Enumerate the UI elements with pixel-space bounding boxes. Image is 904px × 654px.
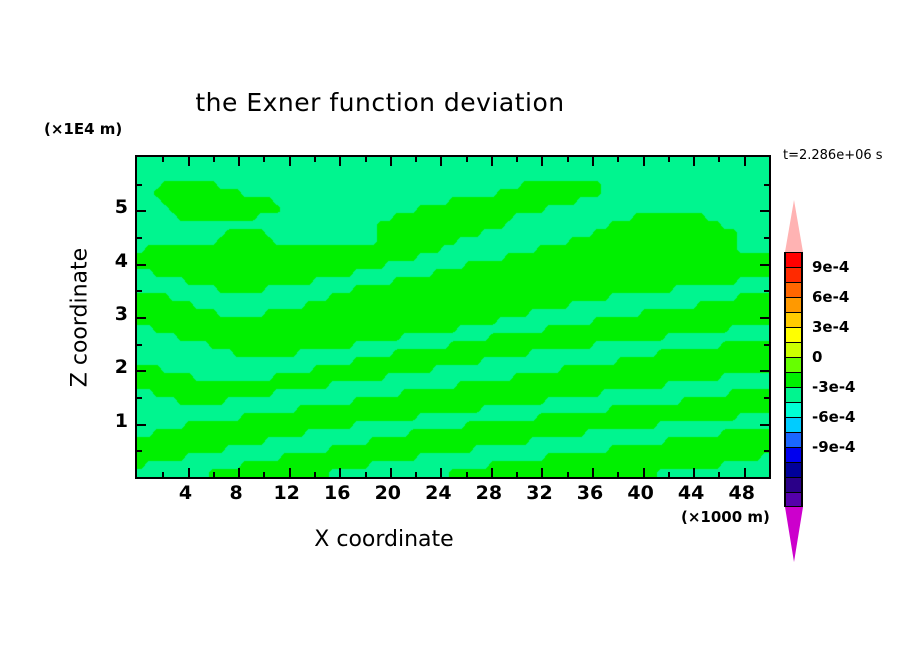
y-tick-label: 4 (98, 250, 128, 272)
y-tick-minor-right (764, 237, 771, 239)
x-tick-major-top (693, 155, 695, 166)
y-tick-major (135, 317, 146, 319)
x-tick-minor (162, 472, 164, 479)
colorbar-band (784, 267, 803, 282)
x-tick-label: 40 (619, 482, 663, 504)
y-tick-major (135, 210, 146, 212)
y-tick-major (135, 264, 146, 266)
x-tick-major-top (592, 155, 594, 166)
x-tick-major-top (744, 155, 746, 166)
x-tick-major (592, 468, 594, 479)
colorbar-band (784, 372, 803, 387)
contour-plot-area (135, 155, 771, 479)
x-tick-minor (516, 472, 518, 479)
x-tick-major-top (188, 155, 190, 166)
x-tick-minor (769, 472, 771, 479)
x-tick-minor-top (516, 155, 518, 162)
x-tick-minor-top (718, 155, 720, 162)
x-tick-minor (415, 472, 417, 479)
y-axis-unit-label: (×1E4 m) (44, 120, 122, 138)
contour-field (137, 157, 769, 477)
x-tick-major-top (643, 155, 645, 166)
y-tick-major (135, 424, 146, 426)
x-tick-major-top (390, 155, 392, 166)
y-tick-minor-right (764, 450, 771, 452)
colorbar-band (784, 357, 803, 372)
colorbar-tick-label: 3e-4 (812, 318, 849, 336)
y-tick-minor (135, 290, 142, 292)
x-tick-minor-top (769, 155, 771, 162)
y-tick-major-right (760, 424, 771, 426)
x-tick-label: 24 (416, 482, 460, 504)
x-tick-minor-top (263, 155, 265, 162)
x-tick-minor-top (668, 155, 670, 162)
colorbar-band (784, 342, 803, 357)
x-tick-minor (263, 472, 265, 479)
x-tick-major (643, 468, 645, 479)
x-tick-minor (567, 472, 569, 479)
x-tick-major (238, 468, 240, 479)
x-tick-label: 4 (164, 482, 208, 504)
y-tick-label: 1 (98, 410, 128, 432)
x-tick-major-top (339, 155, 341, 166)
x-tick-minor-top (213, 155, 215, 162)
x-tick-major (188, 468, 190, 479)
colorbar-underflow-arrow (785, 507, 803, 562)
colorbar-band (784, 477, 803, 492)
x-tick-minor (213, 472, 215, 479)
x-tick-minor-top (466, 155, 468, 162)
y-tick-minor (135, 237, 142, 239)
colorbar-band (784, 327, 803, 342)
x-tick-major-top (440, 155, 442, 166)
colorbar-tick-label: 9e-4 (812, 258, 849, 276)
x-tick-label: 12 (265, 482, 309, 504)
colorbar-overflow-arrow (785, 200, 803, 252)
x-tick-major (541, 468, 543, 479)
colorbar-tick-label: -3e-4 (812, 378, 856, 396)
x-axis-unit-label: (×1000 m) (681, 508, 770, 526)
x-tick-major (491, 468, 493, 479)
y-tick-major-right (760, 264, 771, 266)
y-tick-major-right (760, 370, 771, 372)
x-tick-minor (466, 472, 468, 479)
colorbar-band (784, 432, 803, 447)
x-tick-major-top (491, 155, 493, 166)
x-tick-label: 36 (568, 482, 612, 504)
colorbar-band (784, 417, 803, 432)
x-tick-minor (668, 472, 670, 479)
y-tick-minor-right (764, 184, 771, 186)
x-tick-label: 20 (366, 482, 410, 504)
x-tick-minor (365, 472, 367, 479)
colorbar-band (784, 312, 803, 327)
x-tick-minor-top (617, 155, 619, 162)
x-tick-major (744, 468, 746, 479)
x-tick-minor-top (365, 155, 367, 162)
x-tick-major (390, 468, 392, 479)
colorbar-tick-label: -9e-4 (812, 438, 856, 456)
y-tick-label: 5 (98, 196, 128, 218)
y-tick-label: 2 (98, 356, 128, 378)
page-title: the Exner function deviation (0, 88, 760, 117)
y-tick-major-right (760, 210, 771, 212)
colorbar-tick-label: -6e-4 (812, 408, 856, 426)
x-tick-major (339, 468, 341, 479)
x-tick-minor-top (567, 155, 569, 162)
y-tick-major-right (760, 317, 771, 319)
x-tick-major-top (541, 155, 543, 166)
y-tick-minor (135, 184, 142, 186)
colorbar-band (784, 387, 803, 402)
x-axis-title: X coordinate (0, 527, 768, 552)
x-tick-major (693, 468, 695, 479)
colorbar-band (784, 252, 803, 267)
x-tick-minor-top (314, 155, 316, 162)
colorbar-band (784, 492, 803, 507)
colorbar-band (784, 462, 803, 477)
x-tick-major-top (289, 155, 291, 166)
y-tick-minor (135, 344, 142, 346)
y-tick-major (135, 370, 146, 372)
y-tick-minor (135, 450, 142, 452)
colorbar (784, 252, 803, 507)
colorbar-band (784, 282, 803, 297)
x-tick-label: 48 (720, 482, 764, 504)
x-tick-label: 16 (315, 482, 359, 504)
x-tick-minor (314, 472, 316, 479)
y-tick-minor (135, 397, 142, 399)
colorbar-tick-label: 0 (812, 348, 822, 366)
x-tick-minor (617, 472, 619, 479)
y-tick-minor-right (764, 290, 771, 292)
x-tick-minor-top (162, 155, 164, 162)
colorbar-tick-label: 6e-4 (812, 288, 849, 306)
colorbar-band (784, 402, 803, 417)
y-tick-minor-right (764, 344, 771, 346)
x-tick-label: 32 (517, 482, 561, 504)
x-tick-label: 28 (467, 482, 511, 504)
x-tick-label: 8 (214, 482, 258, 504)
x-tick-label: 44 (669, 482, 713, 504)
x-tick-major (289, 468, 291, 479)
y-axis-title: Z coordinate (68, 198, 93, 438)
x-tick-major (440, 468, 442, 479)
time-annotation: t=2.286e+06 s (783, 148, 883, 163)
x-tick-minor-top (415, 155, 417, 162)
colorbar-band (784, 297, 803, 312)
colorbar-band (784, 447, 803, 462)
y-tick-label: 3 (98, 303, 128, 325)
x-tick-minor (718, 472, 720, 479)
x-tick-major-top (238, 155, 240, 166)
y-tick-minor-right (764, 397, 771, 399)
